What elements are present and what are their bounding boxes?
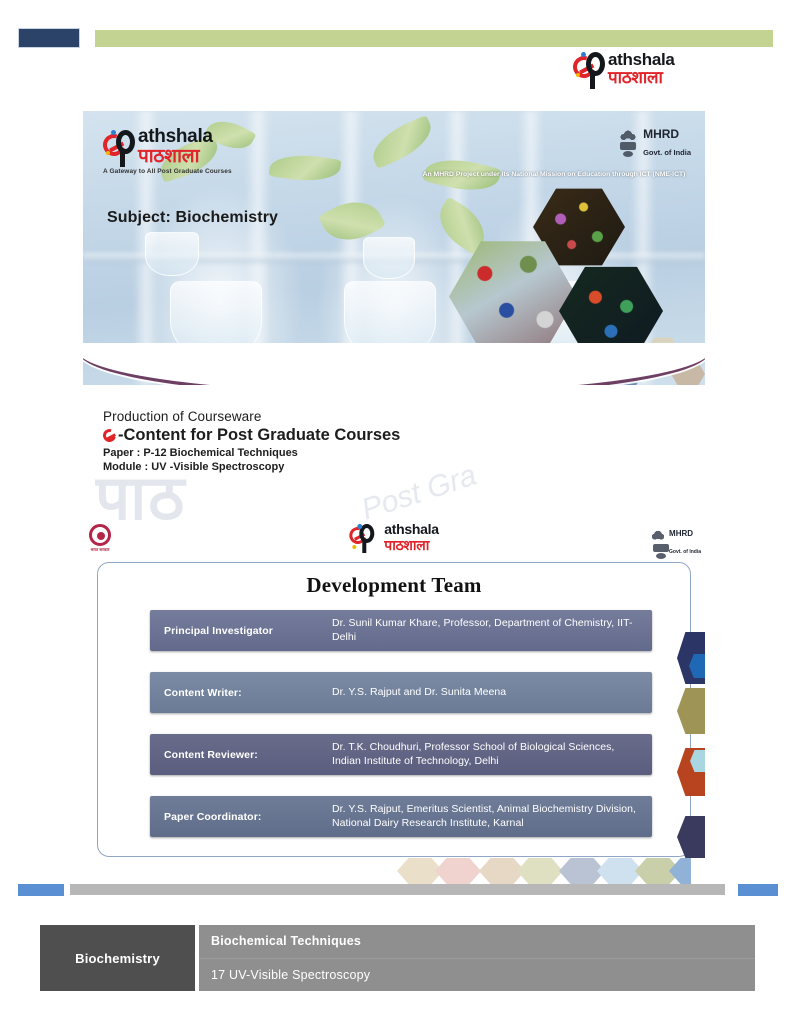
banner-epathshala-logo: athshala पाठशाला A Gateway to All Post G… — [103, 127, 283, 175]
banner-subject-title: Subject: Biochemistry — [107, 209, 278, 227]
top-navy-accent-block — [18, 28, 80, 48]
university-seal-caption: भारत सरकार — [87, 547, 113, 553]
person-value: Dr. Y.S. Rajput, Emeritus Scientist, Ani… — [332, 803, 644, 829]
footer-detail-column: Biochemical Techniques 17 UV-Visible Spe… — [199, 925, 755, 991]
slide2-logo-hindi: पाठशाला — [384, 539, 438, 553]
mhrd-govt-label: Govt. of India — [643, 148, 691, 157]
table-row: Paper Coordinator: Dr. Y.S. Rajput, Emer… — [150, 796, 652, 837]
footer-bar: Biochemistry Biochemical Techniques 17 U… — [40, 925, 755, 991]
person-value: Dr. T.K. Choudhuri, Professor School of … — [332, 741, 644, 767]
slide2-mhrd-block: MHRD Govt. of India — [650, 524, 701, 558]
top-green-accent-bar — [95, 30, 773, 47]
table-row: Content Writer: Dr. Y.S. Rajput and Dr. … — [150, 672, 652, 713]
header-epathshala-logo: athshala पाठशाला — [573, 48, 708, 90]
module-line: Module : UV -Visible Spectroscopy — [103, 461, 400, 473]
footer-subject-cell: Biochemistry — [40, 925, 195, 991]
role-label: Content Reviewer: — [164, 749, 332, 761]
role-label: Principal Investigator — [164, 625, 332, 637]
header-logo-wordmark: athshala पाठशाला — [608, 51, 675, 87]
slide-page: athshala पाठशाला — [0, 0, 791, 1024]
india-emblem-icon — [617, 128, 639, 158]
econtent-e-icon — [101, 427, 119, 445]
paper-line: Paper : P-12 Biochemical Techniques — [103, 447, 400, 459]
banner-logo-english: athshala — [138, 126, 213, 147]
hexagon-decoration-band — [97, 858, 691, 884]
banner-mhrd-block: MHRD Govt. of India — [617, 126, 691, 160]
mhrd-project-strapline: An MHRD Project under its National Missi… — [83, 171, 705, 178]
slide2-epathshala-logo: athshala पाठशाला — [349, 522, 438, 553]
slide2-logo-icon — [349, 523, 382, 552]
header-logo-hindi: पाठशाला — [608, 70, 675, 87]
title-banner: athshala पाठशाला A Gateway to All Post G… — [83, 111, 705, 481]
divider-gray-bar — [70, 884, 725, 895]
divider-blue-left — [18, 884, 64, 896]
role-label: Content Writer: — [164, 687, 332, 699]
university-seal-icon: भारत सरकार — [87, 524, 113, 556]
banner-logo-icon — [103, 129, 136, 165]
development-team-card: Development Team Principal Investigator … — [97, 562, 691, 857]
econtent-line-row: -Content for Post Graduate Courses — [103, 426, 400, 445]
production-line: Production of Courseware — [103, 409, 400, 424]
econtent-line: -Content for Post Graduate Courses — [118, 426, 400, 445]
table-row: Content Reviewer: Dr. T.K. Choudhuri, Pr… — [150, 734, 652, 775]
footer-paper-cell: Biochemical Techniques — [199, 925, 755, 959]
development-team-rows: Principal Investigator Dr. Sunil Kumar K… — [98, 598, 690, 837]
slide2-mhrd-label: MHRD — [669, 529, 693, 538]
person-value: Dr. Sunil Kumar Khare, Professor, Depart… — [332, 617, 644, 643]
table-row: Principal Investigator Dr. Sunil Kumar K… — [150, 610, 652, 651]
role-label: Paper Coordinator: — [164, 811, 332, 823]
slide2-mhrd-govt-label: Govt. of India — [669, 549, 701, 555]
slide2-logo-english: athshala — [384, 521, 438, 537]
slide2-logo-row: भारत सरकार athshala पाठशाला MHRD Govt. o… — [83, 520, 705, 560]
development-team-slide: भारत सरकार athshala पाठशाला MHRD Govt. o… — [83, 520, 705, 880]
divider-blue-right — [738, 884, 778, 896]
footer-module-cell: 17 UV-Visible Spectroscopy — [199, 959, 755, 992]
person-value: Dr. Y.S. Rajput and Dr. Sunita Meena — [332, 686, 506, 699]
development-team-title: Development Team — [98, 563, 690, 598]
india-emblem-icon-small — [650, 530, 666, 552]
epathshala-logo-icon — [573, 51, 606, 87]
banner-course-text: Production of Courseware -Content for Po… — [103, 409, 400, 473]
header-logo-english: athshala — [608, 50, 675, 69]
mhrd-label: MHRD — [643, 127, 679, 141]
banner-logo-hindi: पाठशाला — [138, 147, 213, 166]
